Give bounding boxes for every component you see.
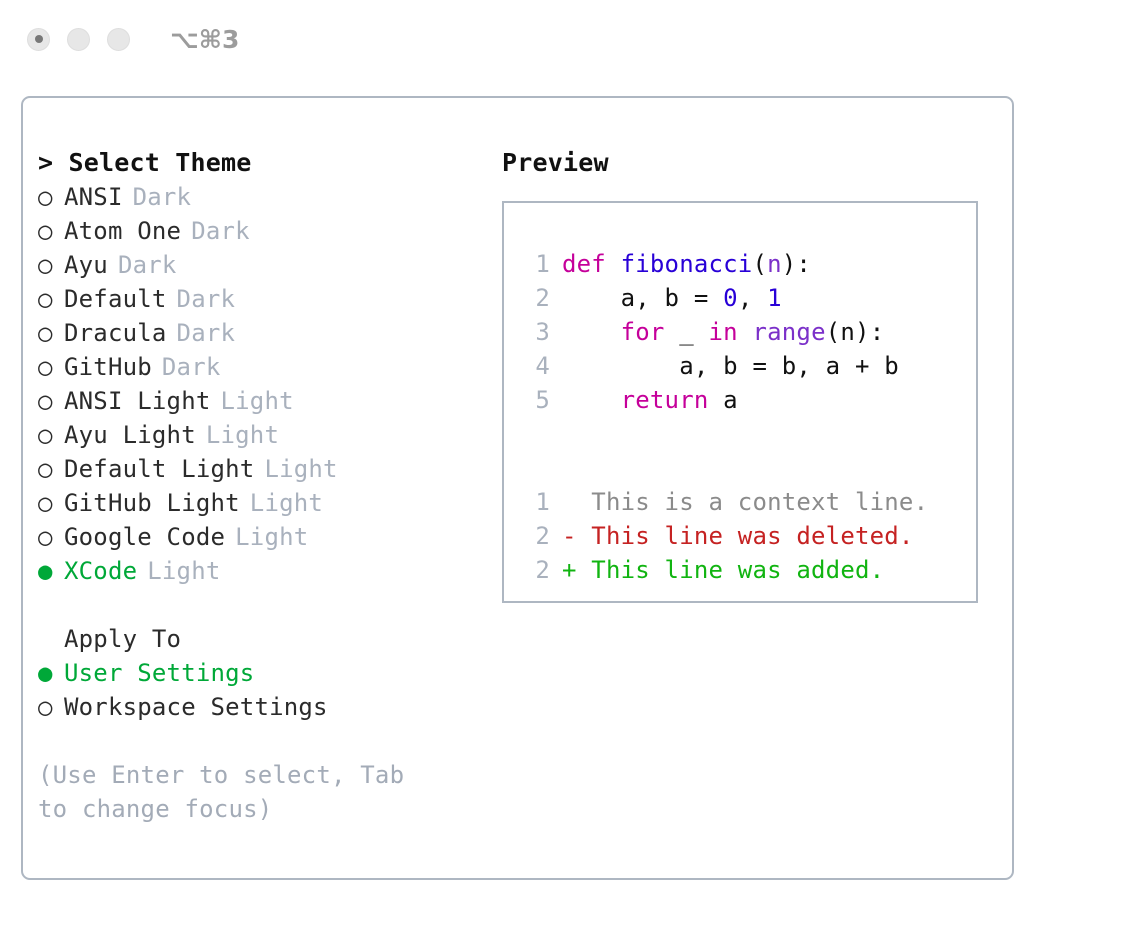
theme-list-item[interactable]: ○AyuDark bbox=[38, 248, 488, 282]
theme-variant-label: Light bbox=[250, 486, 323, 520]
diff-line-number: 1 bbox=[522, 485, 550, 519]
theme-variant-label: Light bbox=[147, 554, 220, 588]
theme-list-item[interactable]: ○ANSI LightLight bbox=[38, 384, 488, 418]
radio-unselected-icon: ○ bbox=[38, 690, 64, 724]
code-line: 4 a, b = b, a + b bbox=[522, 349, 976, 383]
theme-variant-label: Light bbox=[221, 384, 294, 418]
diff-sample: 1 This is a context line.2- This line wa… bbox=[522, 485, 976, 587]
theme-variant-label: Dark bbox=[133, 180, 192, 214]
code-token: ): bbox=[782, 250, 811, 278]
diff-line: 2+ This line was added. bbox=[522, 553, 976, 587]
code-token: ( bbox=[826, 318, 841, 346]
theme-name-label: Default Light bbox=[64, 452, 254, 486]
code-token bbox=[562, 386, 621, 414]
code-line: 5 return a bbox=[522, 383, 976, 417]
theme-picker-column: > Select Theme ○ANSIDark○Atom OneDark○Ay… bbox=[38, 146, 488, 826]
code-sample: 1def fibonacci(n):2 a, b = 0, 13 for _ i… bbox=[522, 247, 976, 417]
code-token: n bbox=[767, 250, 782, 278]
line-number: 2 bbox=[522, 281, 550, 315]
theme-list-item[interactable]: ○DraculaDark bbox=[38, 316, 488, 350]
radio-unselected-icon: ○ bbox=[38, 452, 64, 486]
code-token: _ bbox=[665, 318, 709, 346]
theme-list-item[interactable]: ●XCodeLight bbox=[38, 554, 488, 588]
radio-unselected-icon: ○ bbox=[38, 248, 64, 282]
code-token: return bbox=[621, 386, 709, 414]
line-number: 3 bbox=[522, 315, 550, 349]
theme-list-item[interactable]: ○Ayu LightLight bbox=[38, 418, 488, 452]
diff-line: 1 This is a context line. bbox=[522, 485, 976, 519]
radio-unselected-icon: ○ bbox=[38, 418, 64, 452]
line-number: 4 bbox=[522, 349, 550, 383]
diff-line-number: 2 bbox=[522, 519, 550, 553]
radio-selected-icon: ● bbox=[38, 656, 64, 690]
traffic-lights bbox=[27, 28, 130, 51]
apply-to-label: User Settings bbox=[64, 656, 254, 690]
theme-name-label: XCode bbox=[64, 554, 137, 588]
preview-code-box: 1def fibonacci(n):2 a, b = 0, 13 for _ i… bbox=[502, 201, 978, 603]
record-dot-icon bbox=[35, 35, 43, 43]
apply-to-list[interactable]: ●User Settings○Workspace Settings bbox=[38, 656, 488, 724]
line-number: 5 bbox=[522, 383, 550, 417]
diff-line-number: 2 bbox=[522, 553, 550, 587]
theme-name-label: ANSI Light bbox=[64, 384, 211, 418]
main-panel: > Select Theme ○ANSIDark○Atom OneDark○Ay… bbox=[21, 96, 1014, 880]
app-window: ⌥⌘3 > Select Theme ○ANSIDark○Atom OneDar… bbox=[0, 0, 1140, 934]
diff-line-text: - This line was deleted. bbox=[562, 519, 914, 553]
code-token: for bbox=[621, 318, 665, 346]
radio-unselected-icon: ○ bbox=[38, 384, 64, 418]
code-token: def bbox=[562, 250, 621, 278]
radio-unselected-icon: ○ bbox=[38, 350, 64, 384]
diff-line: 2- This line was deleted. bbox=[522, 519, 976, 553]
theme-name-label: Default bbox=[64, 282, 167, 316]
theme-variant-label: Dark bbox=[191, 214, 250, 248]
theme-name-label: Ayu Light bbox=[64, 418, 196, 452]
select-theme-header: > Select Theme bbox=[38, 146, 488, 180]
code-token bbox=[738, 318, 753, 346]
code-token: ): bbox=[855, 318, 884, 346]
theme-list-item[interactable]: ○Default LightLight bbox=[38, 452, 488, 486]
preview-column: Preview 1def fibonacci(n):2 a, b = 0, 13… bbox=[502, 146, 1002, 603]
list-spacer bbox=[38, 588, 488, 622]
theme-name-label: GitHub bbox=[64, 350, 152, 384]
apply-to-option[interactable]: ○Workspace Settings bbox=[38, 690, 488, 724]
radio-unselected-icon: ○ bbox=[38, 316, 64, 350]
radio-unselected-icon: ○ bbox=[38, 282, 64, 316]
code-line-text: a, b = b, a + b bbox=[562, 349, 899, 383]
code-token: range bbox=[752, 318, 825, 346]
record-light-icon[interactable] bbox=[27, 28, 50, 51]
theme-list-item[interactable]: ○ANSIDark bbox=[38, 180, 488, 214]
code-diff-gap-2 bbox=[522, 451, 976, 485]
apply-to-label: Workspace Settings bbox=[64, 690, 328, 724]
diff-line-text: This is a context line. bbox=[562, 485, 928, 519]
theme-name-label: Atom One bbox=[64, 214, 181, 248]
code-diff-gap bbox=[522, 417, 976, 451]
theme-list-item[interactable]: ○Google CodeLight bbox=[38, 520, 488, 554]
code-token bbox=[562, 318, 621, 346]
theme-list-item[interactable]: ○DefaultDark bbox=[38, 282, 488, 316]
theme-name-label: Ayu bbox=[64, 248, 108, 282]
theme-list-item[interactable]: ○GitHub LightLight bbox=[38, 486, 488, 520]
code-line-text: a, b = 0, 1 bbox=[562, 281, 782, 315]
code-token: ( bbox=[752, 250, 767, 278]
code-line: 3 for _ in range(n): bbox=[522, 315, 976, 349]
keyboard-hint-text: (Use Enter to select, Tab to change focu… bbox=[38, 758, 438, 826]
theme-name-label: Google Code bbox=[64, 520, 225, 554]
theme-variant-label: Dark bbox=[177, 316, 236, 350]
code-line-text: return a bbox=[562, 383, 738, 417]
theme-list-item[interactable]: ○GitHubDark bbox=[38, 350, 488, 384]
code-token: a bbox=[709, 386, 738, 414]
theme-variant-label: Dark bbox=[162, 350, 221, 384]
code-token: 1 bbox=[767, 284, 782, 312]
keyboard-shortcut-label: ⌥⌘3 bbox=[170, 27, 239, 52]
theme-variant-label: Dark bbox=[118, 248, 177, 282]
apply-to-header: Apply To bbox=[38, 622, 488, 656]
theme-name-label: Dracula bbox=[64, 316, 167, 350]
code-line-text: def fibonacci(n): bbox=[562, 247, 811, 281]
code-line-text: for _ in range(n): bbox=[562, 315, 884, 349]
code-token: fibonacci bbox=[621, 250, 753, 278]
radio-unselected-icon: ○ bbox=[38, 180, 64, 214]
radio-unselected-icon: ○ bbox=[38, 214, 64, 248]
code-token: 0 bbox=[723, 284, 738, 312]
theme-variant-label: Light bbox=[235, 520, 308, 554]
apply-to-option[interactable]: ●User Settings bbox=[38, 656, 488, 690]
light-two-icon[interactable] bbox=[67, 28, 90, 51]
theme-name-label: GitHub Light bbox=[64, 486, 240, 520]
code-line: 1def fibonacci(n): bbox=[522, 247, 976, 281]
theme-name-label: ANSI bbox=[64, 180, 123, 214]
theme-variant-label: Light bbox=[264, 452, 337, 486]
diff-line-text: + This line was added. bbox=[562, 553, 884, 587]
radio-unselected-icon: ○ bbox=[38, 486, 64, 520]
theme-list-item[interactable]: ○Atom OneDark bbox=[38, 214, 488, 248]
radio-selected-icon: ● bbox=[38, 554, 64, 588]
theme-variant-label: Light bbox=[206, 418, 279, 452]
theme-list[interactable]: ○ANSIDark○Atom OneDark○AyuDark○DefaultDa… bbox=[38, 180, 488, 588]
preview-header: Preview bbox=[502, 146, 1002, 180]
title-bar: ⌥⌘3 bbox=[0, 0, 1140, 78]
line-number: 1 bbox=[522, 247, 550, 281]
theme-variant-label: Dark bbox=[177, 282, 236, 316]
code-token: , bbox=[738, 284, 767, 312]
code-token: a, b = b, a + b bbox=[562, 352, 899, 380]
radio-unselected-icon: ○ bbox=[38, 520, 64, 554]
light-three-icon[interactable] bbox=[107, 28, 130, 51]
code-token: n bbox=[840, 318, 855, 346]
code-token: a, b = bbox=[562, 284, 723, 312]
code-token: in bbox=[709, 318, 738, 346]
code-line: 2 a, b = 0, 1 bbox=[522, 281, 976, 315]
